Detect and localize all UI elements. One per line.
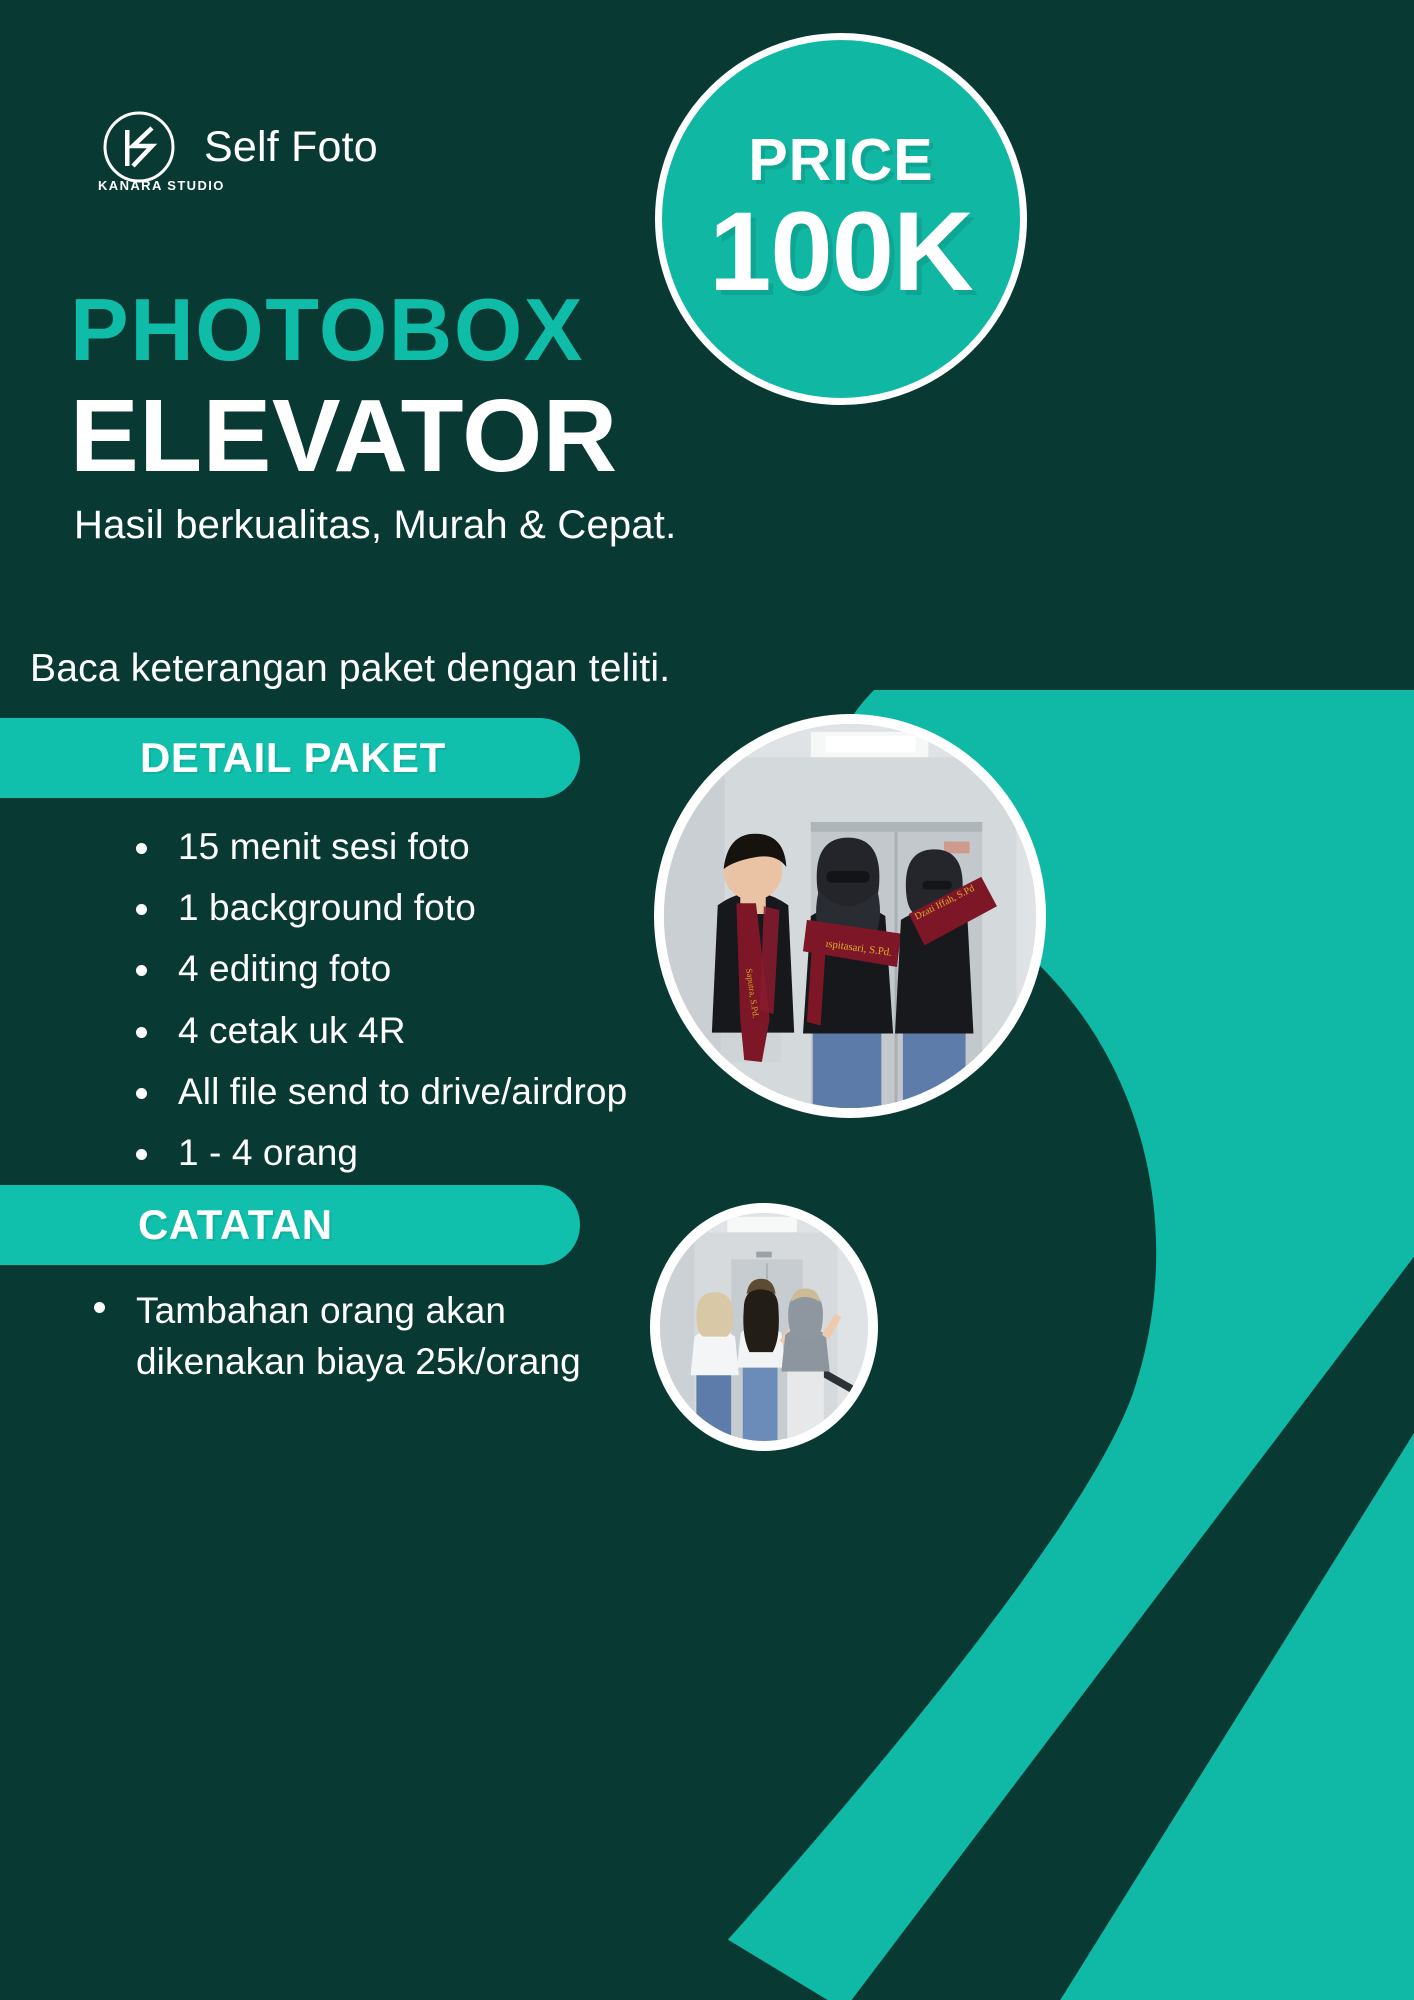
photo-three-women — [650, 1203, 878, 1451]
list-item: 1 - 4 orang — [130, 1132, 730, 1174]
brand-name: Self Foto — [204, 123, 378, 172]
price-badge-value: 100K — [709, 196, 973, 308]
list-item: 15 menit sesi foto — [130, 826, 730, 868]
section-header-detail-paket: DETAIL PAKET — [0, 718, 580, 798]
list-item: 4 editing foto — [130, 948, 730, 990]
photo-graduation-group: Saputra, S.Pd. Puspitasari, S.Pd. — [654, 714, 1046, 1118]
headline-elevator: ELEVATOR — [70, 382, 676, 489]
kanara-k-monogram-icon — [100, 108, 178, 186]
poster-root: Self Foto KANARA STUDIO PRICE 100K PHOTO… — [0, 0, 1414, 2000]
brand-logo-caption: KANARA STUDIO — [98, 178, 225, 193]
price-badge: PRICE 100K — [655, 33, 1027, 405]
detail-paket-list: 15 menit sesi foto 1 background foto 4 e… — [130, 826, 730, 1193]
catatan-list: Tambahan orang akan dikenakan biaya 25k/… — [88, 1285, 648, 1387]
headline-photobox: PHOTOBOX — [70, 286, 676, 374]
list-item: All file send to drive/airdrop — [130, 1071, 730, 1113]
brand-logo-row: Self Foto — [100, 108, 378, 186]
price-badge-label: PRICE — [748, 131, 933, 190]
list-item: 1 background foto — [130, 887, 730, 929]
headline-tagline: Hasil berkualitas, Murah & Cepat. — [74, 503, 676, 548]
list-item: 4 cetak uk 4R — [130, 1010, 730, 1052]
section-title-catatan: CATATAN — [138, 1201, 333, 1249]
section-header-catatan: CATATAN — [0, 1185, 580, 1265]
intro-text: Baca keterangan paket dengan teliti. — [30, 647, 670, 691]
list-item: Tambahan orang akan dikenakan biaya 25k/… — [88, 1285, 648, 1387]
headline-block: PHOTOBOX ELEVATOR Hasil berkualitas, Mur… — [70, 286, 676, 548]
section-title-detail-paket: DETAIL PAKET — [140, 734, 446, 782]
